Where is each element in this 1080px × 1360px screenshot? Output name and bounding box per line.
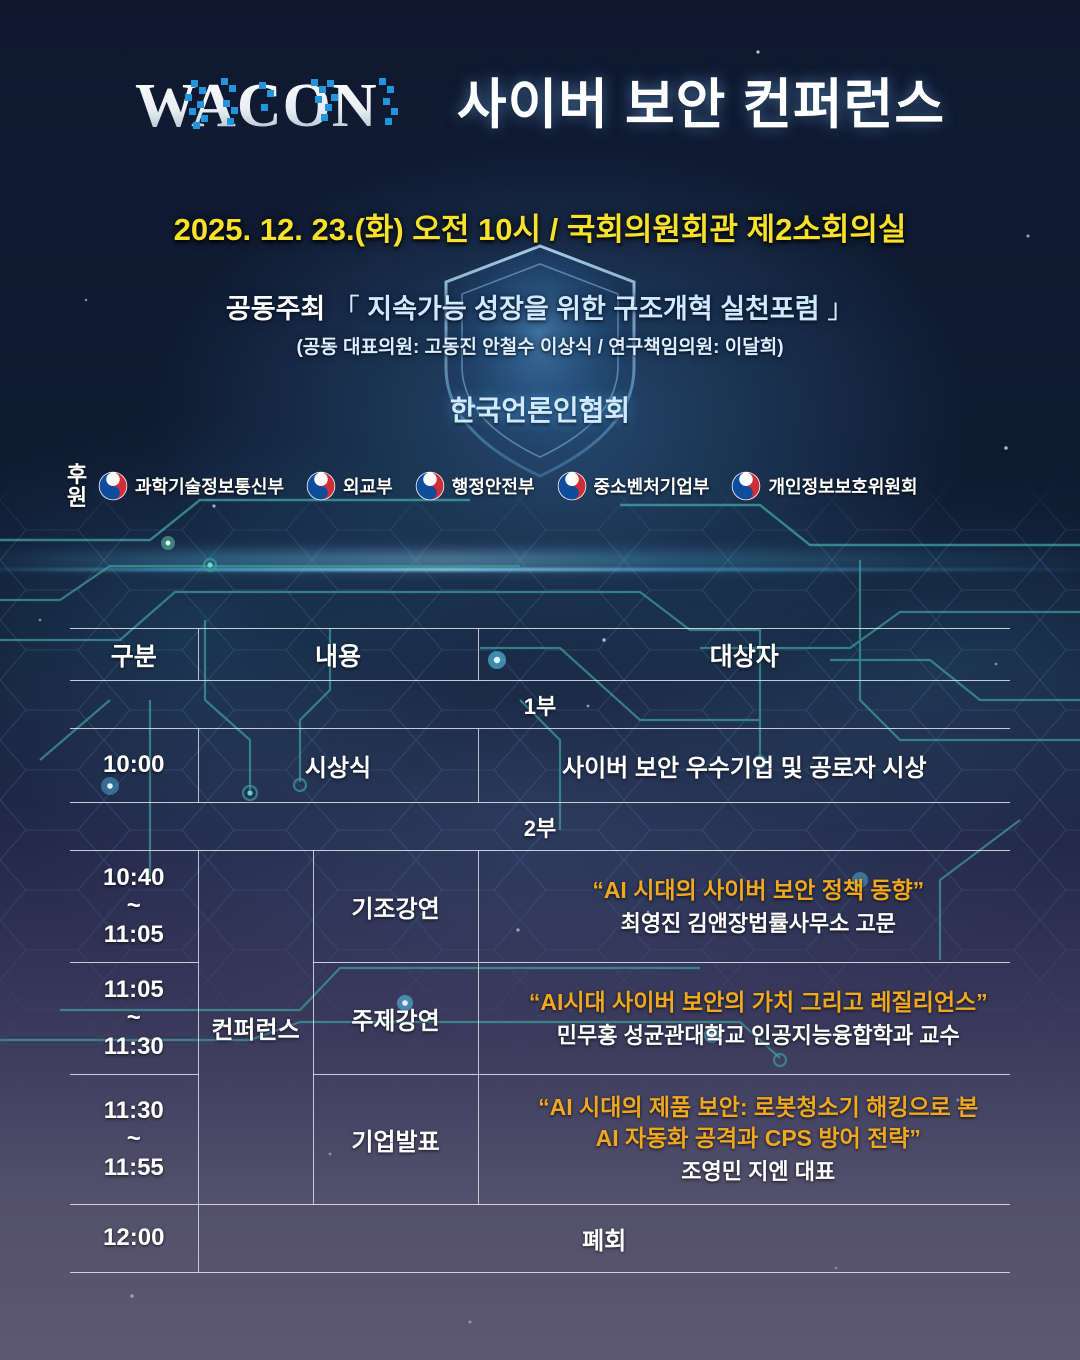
session-title: “AI 시대의 사이버 보안 정책 동향” — [507, 875, 1010, 906]
table-row: 10:00 시상식 사이버 보안 우수기업 및 공로자 시상 — [70, 729, 1010, 803]
page-title: 사이버 보안 컨퍼런스 — [457, 78, 945, 132]
schedule-table: 구분 내용 대상자 1부 10:00 시상식 사이버 보안 우수기업 및 공로자… — [70, 628, 1010, 1273]
row-time: 11:05 ~ 11:30 — [70, 963, 198, 1075]
row-kind: 시상식 — [198, 729, 478, 803]
sponsor-item-0: 과학기술정보통신부 — [98, 471, 284, 501]
row-time-separator: ~ — [70, 1004, 198, 1032]
session-speaker: 민무홍 성균관대학교 인공지능융합학과 교수 — [507, 1021, 1010, 1050]
representatives-line: (공동 대표의원: 고동진 안철수 이상식 / 연구책임의원: 이달희) — [0, 332, 1080, 359]
table-row: 12:00 폐회 — [70, 1205, 1010, 1273]
taegeuk-icon — [557, 471, 587, 501]
row-session: “AI시대 사이버 보안의 가치 그리고 레질리언스” 민무홍 성균관대학교 인… — [478, 963, 1010, 1075]
host-block: 공동주최 「 지속가능 성장을 위한 구조개혁 실천포럼 」 (공동 대표의원:… — [0, 287, 1080, 429]
session-speaker: 최영진 김앤장법률사무소 고문 — [507, 909, 1010, 938]
row-time: 10:00 — [70, 729, 198, 803]
column-header-gubun: 구분 — [70, 629, 198, 681]
session-title-line2: AI 자동화 공격과 CPS 방어 전략” — [507, 1123, 1010, 1154]
association-name: 한국언론인협회 — [0, 389, 1080, 429]
row-time-to: 11:30 — [70, 1033, 198, 1061]
taegeuk-icon — [731, 471, 761, 501]
sponsor-row: 후 원 과학기술정보통신부 — [0, 463, 1080, 509]
bracket-open-icon: 「 — [333, 294, 360, 324]
column-header-daesangja: 대상자 — [478, 629, 1010, 681]
sponsor-item-3: 중소벤처기업부 — [557, 471, 710, 501]
row-time: 10:40 ~ 11:05 — [70, 851, 198, 963]
table-row: 10:40 ~ 11:05 컨퍼런스 기조강연 “AI 시대의 사이버 보안 정… — [70, 851, 1010, 963]
sponsor-label-line1: 후 — [62, 463, 92, 486]
sponsor-name: 행정안전부 — [452, 473, 535, 499]
row-time: 11:30 ~ 11:55 — [70, 1075, 198, 1205]
row-session: “AI 시대의 사이버 보안 정책 동향” 최영진 김앤장법률사무소 고문 — [478, 851, 1010, 963]
row-time-from: 11:05 — [70, 976, 198, 1004]
taegeuk-icon — [306, 471, 336, 501]
sponsor-name: 개인정보보호위원회 — [768, 473, 917, 499]
table-header-row: 구분 내용 대상자 — [70, 629, 1010, 681]
section-part1-label: 1부 — [70, 681, 1010, 729]
session-speaker: 조영민 지엔 대표 — [507, 1157, 1010, 1186]
session-title: “AI시대 사이버 보안의 가치 그리고 레질리언스” — [507, 987, 1010, 1018]
poster-header: WACON — [0, 0, 1080, 509]
taegeuk-icon — [415, 471, 445, 501]
section-part2-row: 2부 — [70, 803, 1010, 851]
wacon-logo: WACON — [135, 74, 431, 136]
taegeuk-icon — [98, 471, 128, 501]
row-time: 12:00 — [70, 1205, 198, 1273]
row-kind: 기업발표 — [313, 1075, 478, 1205]
cohost-label: 공동주최 — [226, 294, 325, 324]
date-venue-line: 2025. 12. 23.(화) 오전 10시 / 국회의원회관 제2소회의실 — [0, 204, 1080, 249]
row-time-to: 11:55 — [70, 1154, 198, 1182]
row-kind: 기조강연 — [313, 851, 478, 963]
sponsor-item-1: 외교부 — [306, 471, 393, 501]
row-closing: 폐회 — [198, 1205, 1010, 1273]
bracket-close-icon: 」 — [827, 294, 854, 324]
sponsor-item-4: 개인정보보호위원회 — [731, 471, 917, 501]
row-session: “AI 시대의 제품 보안: 로봇청소기 해킹으로 본 AI 자동화 공격과 C… — [478, 1075, 1010, 1205]
row-kind: 주제강연 — [313, 963, 478, 1075]
conference-label-cell: 컨퍼런스 — [198, 851, 313, 1205]
session-title-line1: “AI 시대의 제품 보안: 로봇청소기 해킹으로 본 — [507, 1092, 1010, 1123]
section-part2-label: 2부 — [70, 803, 1010, 851]
forum-name: 지속가능 성장을 위한 구조개혁 실천포럼 — [367, 294, 819, 324]
row-time-from: 10:40 — [70, 864, 198, 892]
section-part1-row: 1부 — [70, 681, 1010, 729]
sponsor-name: 외교부 — [343, 473, 393, 499]
row-time-from: 11:30 — [70, 1097, 198, 1125]
row-time-separator: ~ — [70, 892, 198, 920]
wacon-logo-text: WACON — [135, 74, 378, 136]
sponsor-label-line2: 원 — [62, 486, 92, 509]
cohost-line: 공동주최 「 지속가능 성장을 위한 구조개혁 실천포럼 」 — [0, 287, 1080, 326]
column-header-naeyong: 내용 — [198, 629, 478, 681]
sponsor-label: 후 원 — [62, 463, 92, 509]
row-target: 사이버 보안 우수기업 및 공로자 시상 — [478, 729, 1010, 803]
row-time-to: 11:05 — [70, 921, 198, 949]
poster-root: WACON — [0, 0, 1080, 1360]
sponsor-name: 중소벤처기업부 — [594, 473, 710, 499]
sponsor-name: 과학기술정보통신부 — [135, 473, 284, 499]
row-time-separator: ~ — [70, 1125, 198, 1153]
sponsor-item-2: 행정안전부 — [415, 471, 535, 501]
